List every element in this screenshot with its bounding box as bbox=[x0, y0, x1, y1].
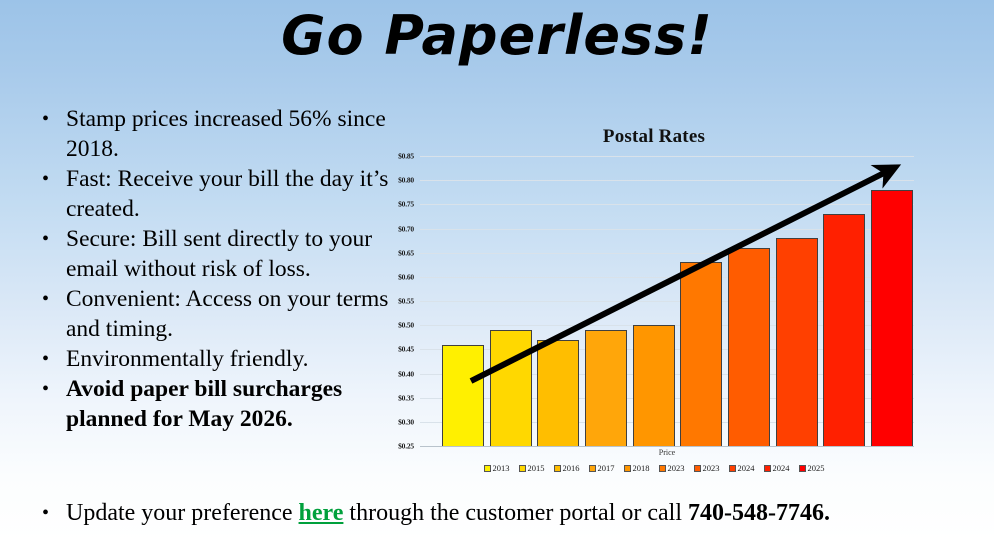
list-item: • Fast: Receive your bill the day it’s c… bbox=[38, 164, 390, 224]
legend-label: 2024 bbox=[773, 463, 790, 473]
bar bbox=[823, 214, 865, 446]
legend-label: 2018 bbox=[633, 463, 650, 473]
chart-plot-area bbox=[420, 156, 914, 446]
phone-number: 740-548-7746. bbox=[688, 500, 830, 526]
bullet-marker-icon: • bbox=[38, 104, 66, 134]
legend-swatch-icon bbox=[624, 465, 631, 472]
chart-legend: 2013201520162017201820232023202420242025 bbox=[376, 463, 932, 473]
slide-canvas: Go Paperless! • Stamp prices increased 5… bbox=[0, 0, 994, 541]
list-item-text: Avoid paper bill surcharges planned for … bbox=[66, 374, 390, 434]
y-axis-tick-label: $0.40 bbox=[398, 369, 414, 378]
bar bbox=[776, 238, 818, 446]
bar bbox=[490, 330, 532, 446]
list-item-text: Fast: Receive your bill the day it’s cre… bbox=[66, 164, 390, 224]
y-axis-tick-label: $0.30 bbox=[398, 417, 414, 426]
legend-label: 2017 bbox=[598, 463, 615, 473]
legend-swatch-icon bbox=[519, 465, 526, 472]
legend-swatch-icon bbox=[799, 465, 806, 472]
legend-item: 2025 bbox=[799, 463, 825, 473]
legend-item: 2024 bbox=[764, 463, 790, 473]
list-item: • Stamp prices increased 56% since 2018. bbox=[38, 104, 390, 164]
legend-label: 2025 bbox=[808, 463, 825, 473]
y-axis-tick-label: $0.25 bbox=[398, 442, 414, 451]
bar bbox=[633, 325, 675, 446]
y-axis-tick-label: $0.70 bbox=[398, 224, 414, 233]
legend-label: 2015 bbox=[528, 463, 545, 473]
page-title: Go Paperless! bbox=[0, 8, 994, 65]
y-axis-tick-label: $0.75 bbox=[398, 200, 414, 209]
bar bbox=[537, 340, 579, 446]
chart-plot-wrapper: $0.85$0.80$0.75$0.70$0.65$0.60$0.55$0.50… bbox=[376, 156, 932, 446]
legend-swatch-icon bbox=[764, 465, 771, 472]
legend-label: 2016 bbox=[563, 463, 580, 473]
legend-label: 2013 bbox=[493, 463, 510, 473]
legend-item: 2023 bbox=[659, 463, 685, 473]
list-item: • Environmentally friendly. bbox=[38, 344, 390, 374]
postal-rates-chart: Postal Rates $0.85$0.80$0.75$0.70$0.65$0… bbox=[376, 126, 932, 482]
benefits-bullet-list: • Stamp prices increased 56% since 2018.… bbox=[38, 104, 390, 434]
bar bbox=[442, 345, 484, 447]
legend-swatch-icon bbox=[694, 465, 701, 472]
legend-swatch-icon bbox=[484, 465, 491, 472]
legend-item: 2018 bbox=[624, 463, 650, 473]
x-axis-label: Price bbox=[420, 448, 914, 457]
y-axis-tick-label: $0.55 bbox=[398, 297, 414, 306]
y-axis-tick-label: $0.85 bbox=[398, 152, 414, 161]
call-to-action-line: • Update your preference here through th… bbox=[38, 497, 968, 529]
cta-prefix-text: Update your preference bbox=[66, 500, 299, 526]
y-axis-tick-label: $0.80 bbox=[398, 176, 414, 185]
list-item-text: Secure: Bill sent directly to your email… bbox=[66, 224, 390, 284]
legend-swatch-icon bbox=[729, 465, 736, 472]
legend-swatch-icon bbox=[554, 465, 561, 472]
y-axis-tick-label: $0.35 bbox=[398, 393, 414, 402]
gridline bbox=[420, 446, 914, 447]
legend-item: 2017 bbox=[589, 463, 615, 473]
legend-item: 2024 bbox=[729, 463, 755, 473]
legend-swatch-icon bbox=[589, 465, 596, 472]
here-link[interactable]: here bbox=[299, 500, 344, 526]
bullet-marker-icon: • bbox=[38, 224, 66, 254]
bullet-marker-icon: • bbox=[38, 374, 66, 404]
bar-series bbox=[420, 156, 914, 446]
list-item: • Avoid paper bill surcharges planned fo… bbox=[38, 374, 390, 434]
legend-item: 2013 bbox=[484, 463, 510, 473]
cta-middle-text: through the customer portal or call bbox=[343, 500, 688, 526]
y-axis-tick-label: $0.65 bbox=[398, 248, 414, 257]
bar bbox=[871, 190, 913, 446]
list-item-text: Stamp prices increased 56% since 2018. bbox=[66, 104, 390, 164]
list-item: • Convenient: Access on your terms and t… bbox=[38, 284, 390, 344]
legend-label: 2023 bbox=[703, 463, 720, 473]
legend-label: 2023 bbox=[668, 463, 685, 473]
bar bbox=[680, 262, 722, 446]
list-item-text: Convenient: Access on your terms and tim… bbox=[66, 284, 390, 344]
chart-title: Postal Rates bbox=[376, 126, 932, 148]
call-to-action-text: Update your preference here through the … bbox=[66, 497, 968, 529]
legend-swatch-icon bbox=[659, 465, 666, 472]
legend-item: 2015 bbox=[519, 463, 545, 473]
legend-label: 2024 bbox=[738, 463, 755, 473]
bullet-marker-icon: • bbox=[38, 497, 66, 529]
bar bbox=[728, 248, 770, 446]
bullet-marker-icon: • bbox=[38, 164, 66, 194]
list-item: • Secure: Bill sent directly to your ema… bbox=[38, 224, 390, 284]
bullet-marker-icon: • bbox=[38, 344, 66, 374]
legend-item: 2023 bbox=[694, 463, 720, 473]
y-axis-tick-label: $0.45 bbox=[398, 345, 414, 354]
bullet-marker-icon: • bbox=[38, 284, 66, 314]
legend-item: 2016 bbox=[554, 463, 580, 473]
bar bbox=[585, 330, 627, 446]
y-axis-tick-label: $0.50 bbox=[398, 321, 414, 330]
list-item-text: Environmentally friendly. bbox=[66, 344, 390, 374]
y-axis-tick-label: $0.60 bbox=[398, 272, 414, 281]
y-axis: $0.85$0.80$0.75$0.70$0.65$0.60$0.55$0.50… bbox=[376, 156, 416, 446]
